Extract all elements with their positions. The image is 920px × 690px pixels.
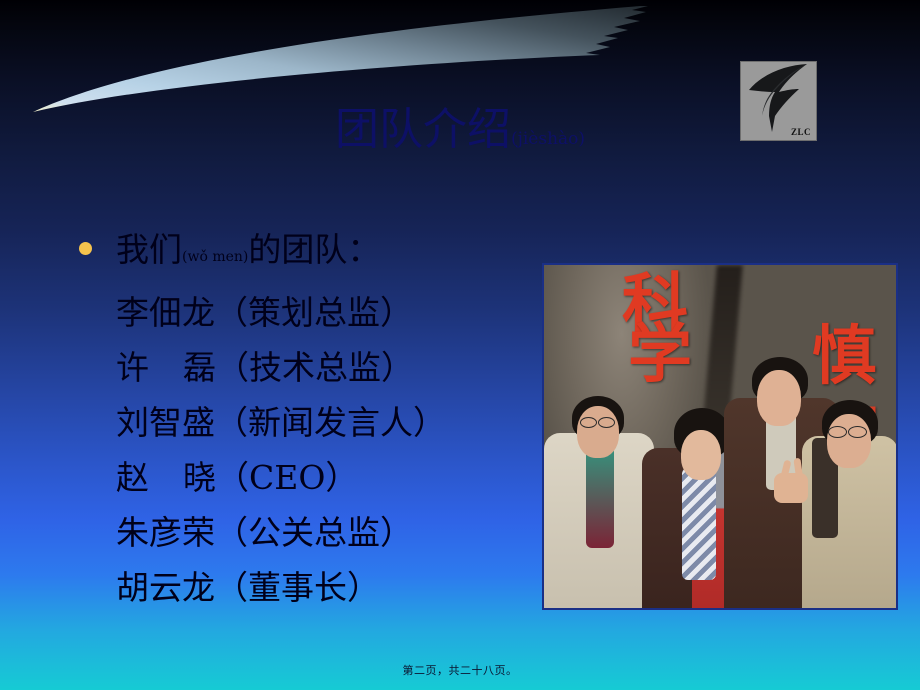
glasses-icon [598, 417, 615, 428]
member-name: 刘智盛 [116, 403, 215, 442]
body-heading: 我们(wǒ men)的团队： [116, 222, 544, 285]
team-photo: 科 学 慎 思 [544, 265, 896, 608]
member-name: 赵 [116, 458, 149, 497]
heading-prefix: 我们 [116, 230, 182, 269]
person-head [827, 414, 871, 468]
heading-pinyin: (wǒ men) [182, 249, 248, 265]
member-row: 胡云龙（董事长） [74, 560, 544, 615]
member-row: 许磊（技术总监） [74, 340, 544, 395]
bullet-list-item: 我们(wǒ men)的团队： [74, 222, 544, 285]
member-row: 朱彦荣（公关总监） [74, 505, 544, 560]
presentation-slide: ZLC 团队介绍(jièshào) 我们(wǒ men)的团队： 李佃龙（策划总… [0, 0, 920, 690]
member-row: 刘智盛（新闻发言人） [74, 395, 544, 450]
glasses-icon [580, 417, 597, 428]
photo-person [544, 378, 654, 608]
content-body: 我们(wǒ men)的团队： 李佃龙（策划总监） 许磊（技术总监） 刘智盛（新闻… [74, 222, 544, 615]
member-role: （技术总监） [216, 348, 414, 387]
person-head [681, 430, 721, 480]
photo-person [802, 378, 896, 608]
person-head [757, 370, 801, 426]
slide-footer: 第二页，共二十八页。 [0, 662, 920, 678]
person-scarf [682, 468, 716, 580]
title-pinyin: (jièshào) [511, 129, 585, 149]
member-role: （董事长） [215, 568, 380, 607]
member-name: 胡云龙 [116, 568, 215, 607]
member-name: 朱彦荣 [116, 513, 215, 552]
member-name: 许 [116, 348, 149, 387]
member-role: （公关总监） [215, 513, 413, 552]
title-chinese: 团队介绍 [335, 104, 511, 155]
person-head [577, 406, 619, 458]
page-title: 团队介绍(jièshào) [0, 104, 920, 165]
bullet-dot-icon [79, 242, 92, 255]
member-row: 赵晓（CEO） [74, 450, 544, 505]
member-name: 李佃龙 [116, 293, 215, 332]
member-role: （CEO） [216, 458, 358, 497]
glasses-icon [848, 426, 867, 438]
heading-suffix: 的团队： [248, 230, 380, 269]
member-role: （策划总监） [215, 293, 413, 332]
member-name-second: 晓 [183, 458, 216, 497]
glasses-icon [828, 426, 847, 438]
member-row: 李佃龙（策划总监） [74, 285, 544, 340]
member-role: （新闻发言人） [215, 403, 446, 442]
member-name-second: 磊 [183, 348, 216, 387]
